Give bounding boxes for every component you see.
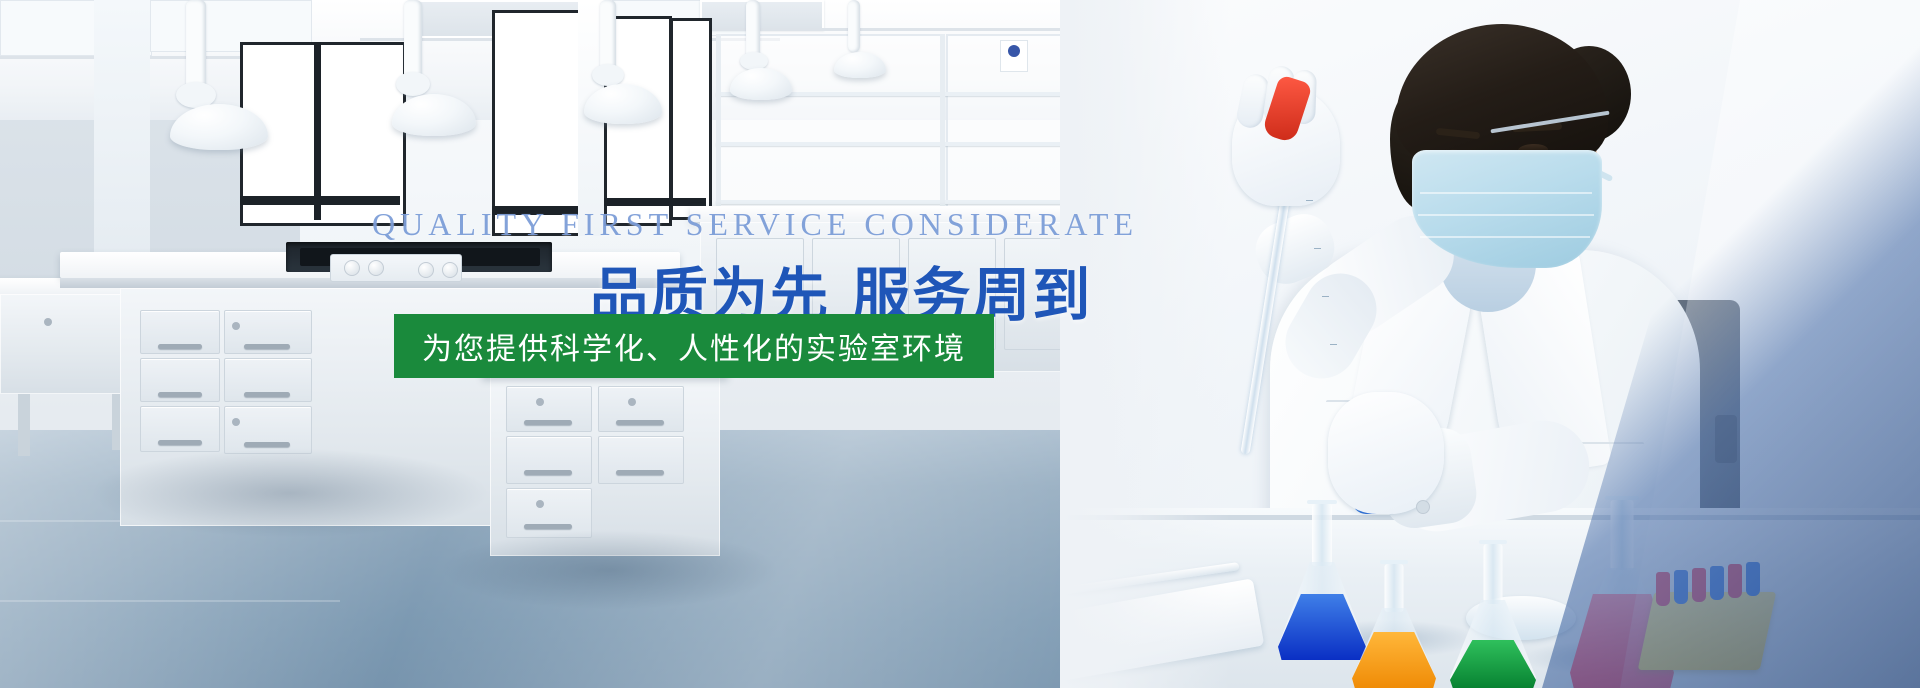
subtitle-text: 为您提供科学化、人性化的实验室环境	[394, 314, 994, 378]
subtitle-banner: 为您提供科学化、人性化的实验室环境	[394, 314, 994, 378]
text-overlay: QUALITY FIRST SERVICE CONSIDERATE 品质为先 服…	[0, 0, 1920, 688]
english-tagline: QUALITY FIRST SERVICE CONSIDERATE	[372, 206, 1138, 243]
hero-banner: QUALITY FIRST SERVICE CONSIDERATE 品质为先 服…	[0, 0, 1920, 688]
